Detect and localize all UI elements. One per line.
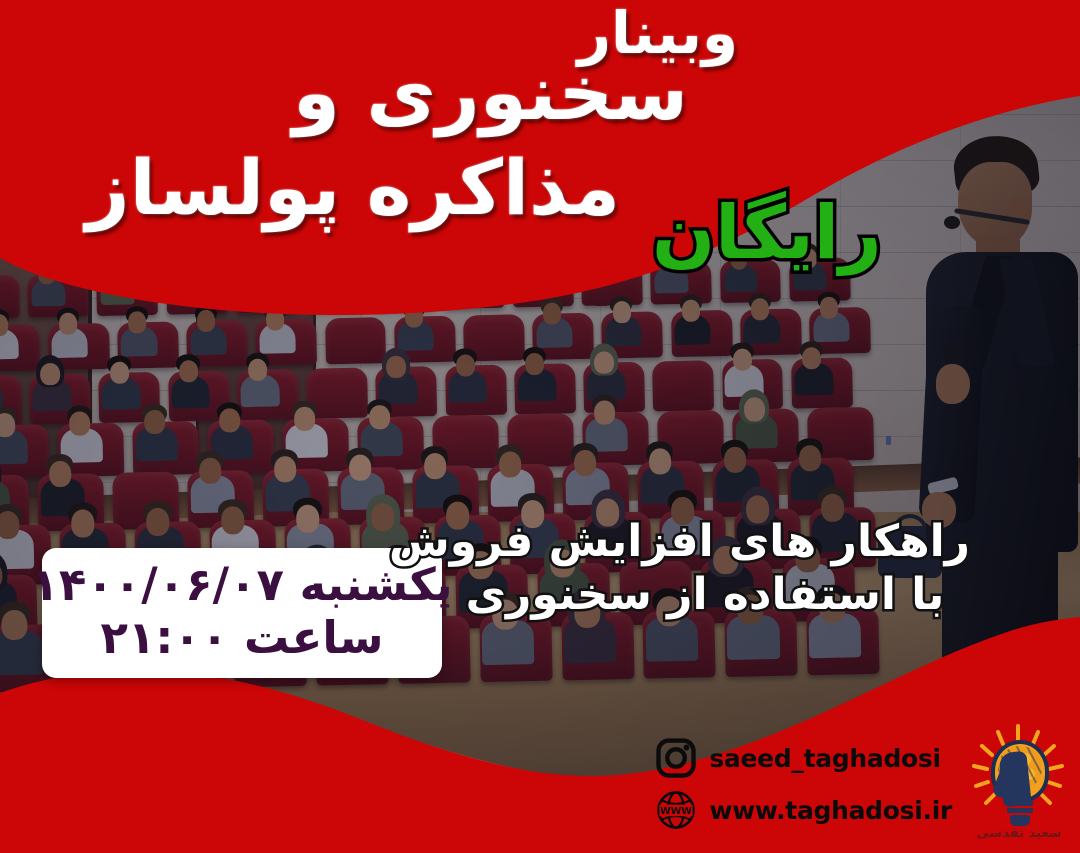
- poster-subtitle-group: راهکار های افزایش فروش با استفاده از سخن…: [440, 516, 970, 622]
- subtitle-line-1: راهکار های افزایش فروش: [440, 516, 970, 569]
- webinar-poster: وبینار سخنوری و مذاکره پولساز رایگان یکش…: [0, 0, 1080, 853]
- free-badge: رایگان: [652, 190, 882, 276]
- date-time-card: یکشنبه ۱۴۰۰/۰۶/۰۷ ساعت ۲۱:۰۰: [42, 548, 442, 678]
- instagram-handle[interactable]: saeed_taghadosi: [709, 744, 940, 773]
- contact-links: saeed_taghadosi WWW www.taghadosi.ir: [655, 722, 958, 836]
- title-line-2: سخنوری و: [293, 55, 688, 131]
- contact-row-website[interactable]: WWW www.taghadosi.ir: [655, 784, 952, 836]
- free-badge-label: رایگان: [652, 190, 882, 276]
- lightbulb-screw-1: [1007, 800, 1033, 806]
- globe-www-icon[interactable]: WWW: [655, 789, 697, 831]
- title-line-3: مذاکره پولساز: [86, 150, 620, 226]
- subtitle-line-2: با استفاده از سخنوری: [440, 569, 970, 622]
- instagram-icon[interactable]: [655, 737, 697, 779]
- brand-logo: سعید تقدسی: [958, 722, 1080, 848]
- hand-icon: [998, 751, 1031, 808]
- svg-text:WWW: WWW: [660, 806, 692, 817]
- contact-row-instagram[interactable]: saeed_taghadosi: [655, 732, 952, 784]
- website-url[interactable]: www.taghadosi.ir: [709, 796, 952, 825]
- time-line: ساعت ۲۱:۰۰: [100, 611, 383, 664]
- brand-name: سعید تقدسی: [958, 826, 1080, 841]
- footer-contact-bar: سعید تقدسی saeed_taghadosi: [676, 722, 1080, 853]
- lightbulb-base-icon: [1010, 815, 1030, 826]
- lightbulb-screw-2: [1007, 808, 1033, 813]
